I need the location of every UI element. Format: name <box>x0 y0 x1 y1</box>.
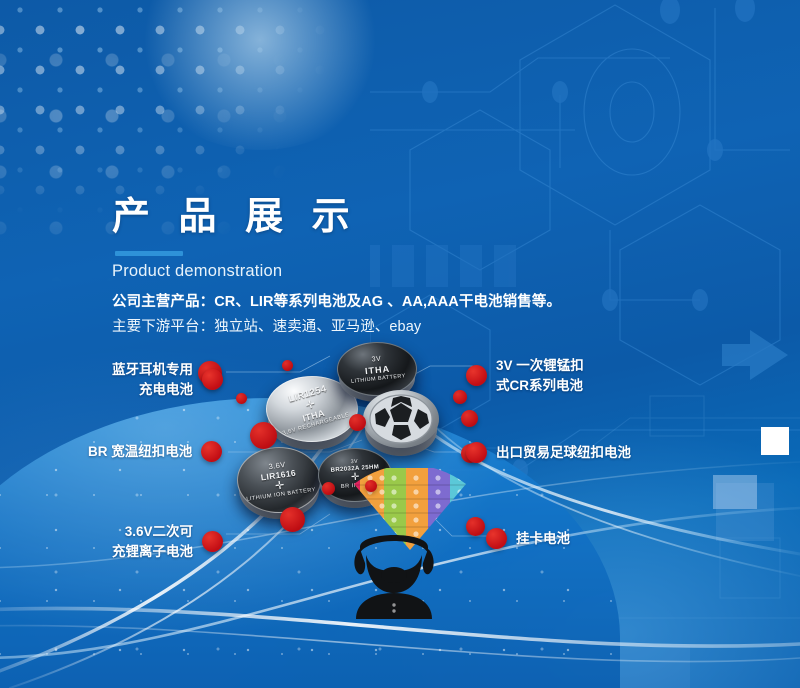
callout-br-wide-temp[interactable]: BR 宽温纽扣电池 <box>88 441 222 462</box>
red-bullet-icon <box>201 441 222 462</box>
decor-dot <box>461 410 478 427</box>
red-bullet-icon <box>466 365 487 386</box>
callout-soccer-export[interactable]: 出口贸易足球纽扣电池 <box>466 442 631 463</box>
decor-dot <box>349 414 366 431</box>
battery-face <box>363 390 439 448</box>
battery-face: 3V ITHA LITHIUM BATTERY <box>337 342 417 396</box>
red-bullet-icon <box>202 369 223 390</box>
red-bullet-icon <box>486 528 507 549</box>
callout-label: 出口贸易足球纽扣电池 <box>496 443 631 463</box>
callout-bluetooth-rechargeable[interactable]: 蓝牙耳机专用 充电电池 <box>112 360 223 399</box>
callout-lithium-ion-36v[interactable]: 3.6V二次可 充锂离子电池 <box>112 522 223 561</box>
battery-label: 3V ITHA LITHIUM BATTERY <box>348 353 405 385</box>
red-bullet-icon <box>466 442 487 463</box>
callout-label: 挂卡电池 <box>516 529 570 549</box>
decor-dot <box>280 507 305 532</box>
decor-dot <box>453 390 467 404</box>
battery-face: 3.6V LIR1616 ✛ LITHIUM ION BATTERY <box>237 447 321 513</box>
callout-label: 蓝牙耳机专用 充电电池 <box>112 360 193 399</box>
decor-dot <box>365 480 377 492</box>
red-bullet-icon <box>202 531 223 552</box>
soccer-ball-icon <box>363 390 439 448</box>
battery-label: 3.6V LIR1616 ✛ LITHIUM ION BATTERY <box>242 456 317 503</box>
callout-label: 3.6V二次可 充锂离子电池 <box>112 522 193 561</box>
decor-dot <box>322 482 335 495</box>
callout-label: 3V 一次锂锰扣 式CR系列电池 <box>496 356 584 395</box>
battery-lir1616: 3.6V LIR1616 ✛ LITHIUM ION BATTERY <box>237 447 321 521</box>
bearded-person-silhouette <box>338 527 450 619</box>
callout-cr-series-3v[interactable]: 3V 一次锂锰扣 式CR系列电池 <box>466 356 584 395</box>
decor-dot <box>236 393 247 404</box>
decor-dot <box>250 422 277 449</box>
decor-dot <box>466 517 485 536</box>
product-showcase-poster: 产 品 展 示 Product demonstration 公司主营产品：CR、… <box>0 0 800 688</box>
callout-card-hang[interactable]: 挂卡电池 <box>486 528 570 549</box>
decor-dot <box>282 360 293 371</box>
callout-label: BR 宽温纽扣电池 <box>88 442 192 462</box>
